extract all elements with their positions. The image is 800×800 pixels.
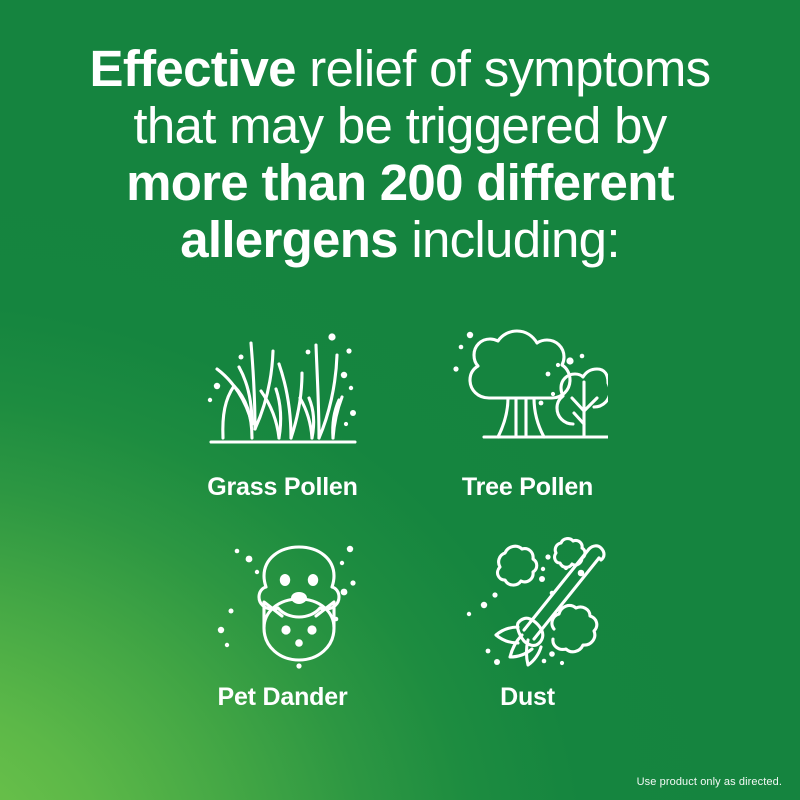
advertisement-panel: Effective relief of symptoms that may be… <box>0 0 800 800</box>
allergen-tile-tree-pollen: Tree Pollen <box>405 325 650 502</box>
allergen-label-pet-dander: Pet Dander <box>218 682 348 712</box>
headline: Effective relief of symptoms that may be… <box>0 40 800 268</box>
allergen-tile-pet-dander: Pet Dander <box>160 535 405 712</box>
headline-line-2: that may be triggered by <box>0 97 800 154</box>
pet-dander-icon <box>203 535 363 670</box>
grass-pollen-icon <box>203 325 363 460</box>
allergen-label-grass-pollen: Grass Pollen <box>207 472 357 502</box>
headline-line-4: allergens including: <box>0 211 800 268</box>
headline-line-1-rest: relief of symptoms <box>296 40 711 97</box>
allergen-tile-dust: Dust <box>405 535 650 712</box>
headline-line-4-rest: including: <box>398 211 620 268</box>
headline-emphasis-allergens: allergens <box>180 211 398 268</box>
headline-line-3: more than 200 different <box>0 154 800 211</box>
headline-emphasis-effective: Effective <box>90 40 296 97</box>
allergen-label-dust: Dust <box>500 682 555 712</box>
headline-emphasis-more-than-200: more than 200 different <box>126 154 674 211</box>
allergen-tile-grass-pollen: Grass Pollen <box>160 325 405 502</box>
allergen-grid: Grass Pollen <box>160 325 650 712</box>
disclaimer-text: Use product only as directed. <box>637 776 782 788</box>
allergen-label-tree-pollen: Tree Pollen <box>462 472 593 502</box>
headline-line-1: Effective relief of symptoms <box>0 40 800 97</box>
tree-pollen-icon <box>448 325 608 460</box>
dust-icon <box>448 535 608 670</box>
